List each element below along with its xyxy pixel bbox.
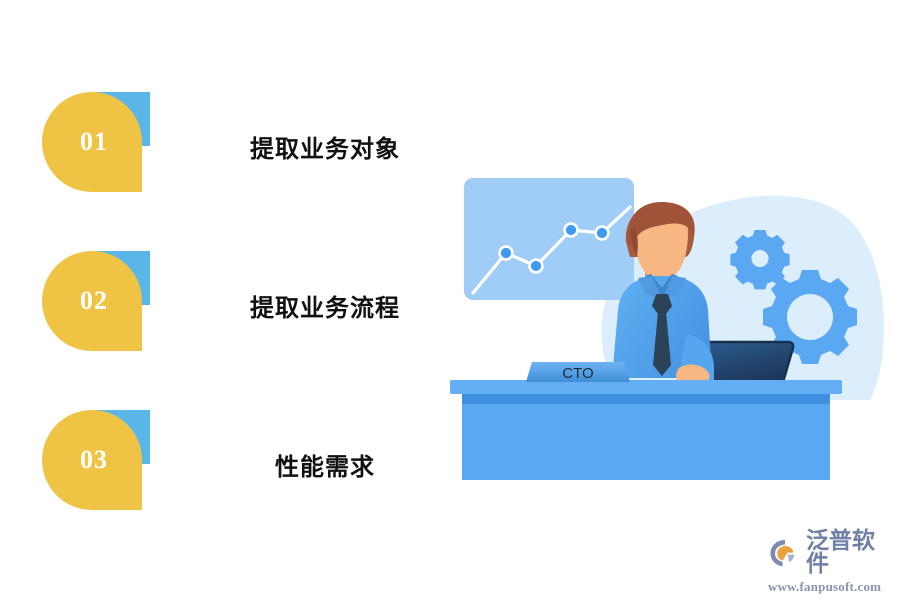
badge-number: 02 bbox=[42, 251, 142, 351]
step-badge-01: 01 bbox=[42, 92, 150, 200]
brand-name: 泛普软件 bbox=[806, 530, 894, 576]
brand-logo[interactable]: 泛普软件 www.fanpusoft.com bbox=[768, 530, 894, 590]
list-item[interactable]: 01 提取业务对象 bbox=[0, 92, 460, 200]
badge-number: 03 bbox=[42, 410, 142, 510]
list-item-label: 提取业务流程 bbox=[250, 251, 450, 359]
list-item[interactable]: 03 性能需求 bbox=[0, 410, 460, 518]
nameplate-text: CTO bbox=[562, 365, 593, 382]
desk-top bbox=[450, 380, 842, 394]
chart-point bbox=[500, 247, 513, 260]
nameplate: CTO bbox=[526, 362, 630, 382]
list-item[interactable]: 02 提取业务流程 bbox=[0, 251, 460, 359]
desk-body bbox=[462, 404, 830, 480]
brand-url: www.fanpusoft.com bbox=[768, 579, 894, 595]
step-badge-03: 03 bbox=[42, 410, 150, 518]
cto-at-desk-illustration: CTO bbox=[440, 110, 890, 510]
fanpu-logo-icon bbox=[768, 537, 802, 569]
list-item-label: 提取业务对象 bbox=[250, 92, 450, 200]
chart-point bbox=[565, 224, 578, 237]
step-badge-02: 02 bbox=[42, 251, 150, 359]
desk-shadow bbox=[462, 394, 830, 404]
chart-screen-panel bbox=[464, 178, 634, 300]
chart-point bbox=[530, 260, 543, 273]
chart-point bbox=[596, 227, 609, 240]
desk bbox=[450, 380, 842, 480]
badge-number: 01 bbox=[42, 92, 142, 192]
slide-canvas: 01 提取业务对象 02 提取业务流程 03 性能需求 bbox=[0, 0, 900, 600]
